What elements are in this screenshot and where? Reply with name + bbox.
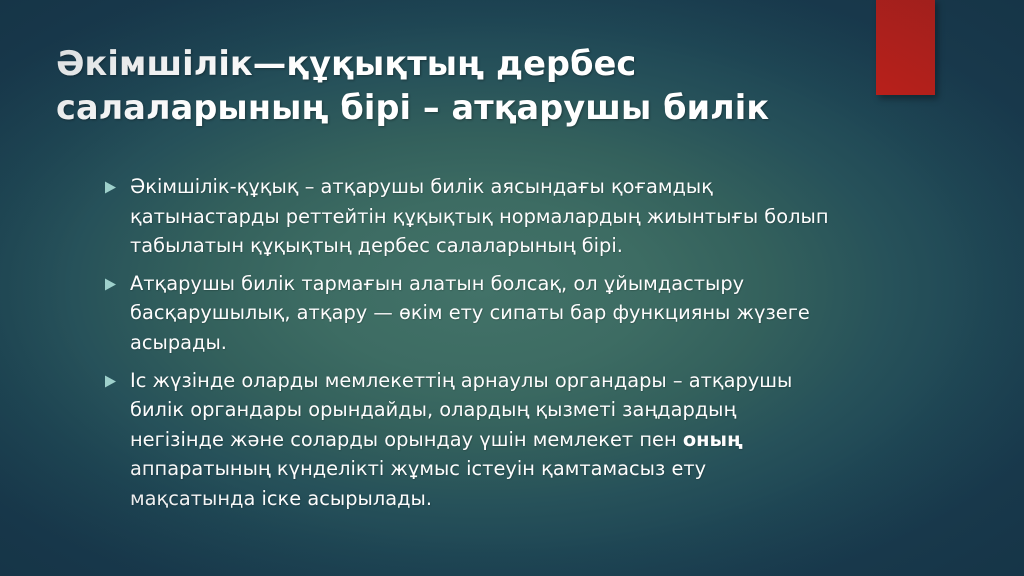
bullet-text-3-emphasis: оның (683, 428, 743, 451)
bullet-item-1: Әкімшілік-құқық – атқарушы билік аясында… (104, 172, 834, 261)
bullet-text-3-tail: аппаратының күнделікті жұмыс істеуін қам… (130, 457, 706, 510)
triangle-right-icon (104, 366, 130, 388)
bullet-item-2: Атқарушы билік тармағын алатын болсақ, о… (104, 269, 834, 358)
triangle-right-icon (104, 269, 130, 291)
triangle-right-icon (104, 172, 130, 194)
bullet-item-3: Іс жүзінде оларды мемлекеттің арнаулы ор… (104, 366, 834, 514)
red-accent-rectangle (876, 0, 935, 95)
presentation-slide: Әкімшілік—құқықтың дербес салаларының бі… (0, 0, 1024, 576)
bullet-text-3: Іс жүзінде оларды мемлекеттің арнаулы ор… (130, 366, 834, 514)
slide-body-content: Әкімшілік-құқық – атқарушы билік аясында… (104, 172, 834, 522)
bullet-text-1: Әкімшілік-құқық – атқарушы билік аясында… (130, 172, 834, 261)
bullet-text-2: Атқарушы билік тармағын алатын болсақ, о… (130, 269, 834, 358)
bullet-text-1-segment: Әкімшілік-құқық – атқарушы билік аясында… (130, 175, 829, 257)
slide-title: Әкімшілік—құқықтың дербес салаларының бі… (56, 42, 856, 130)
bullet-text-2-segment: Атқарушы билік тармағын алатын болсақ, о… (130, 272, 810, 354)
